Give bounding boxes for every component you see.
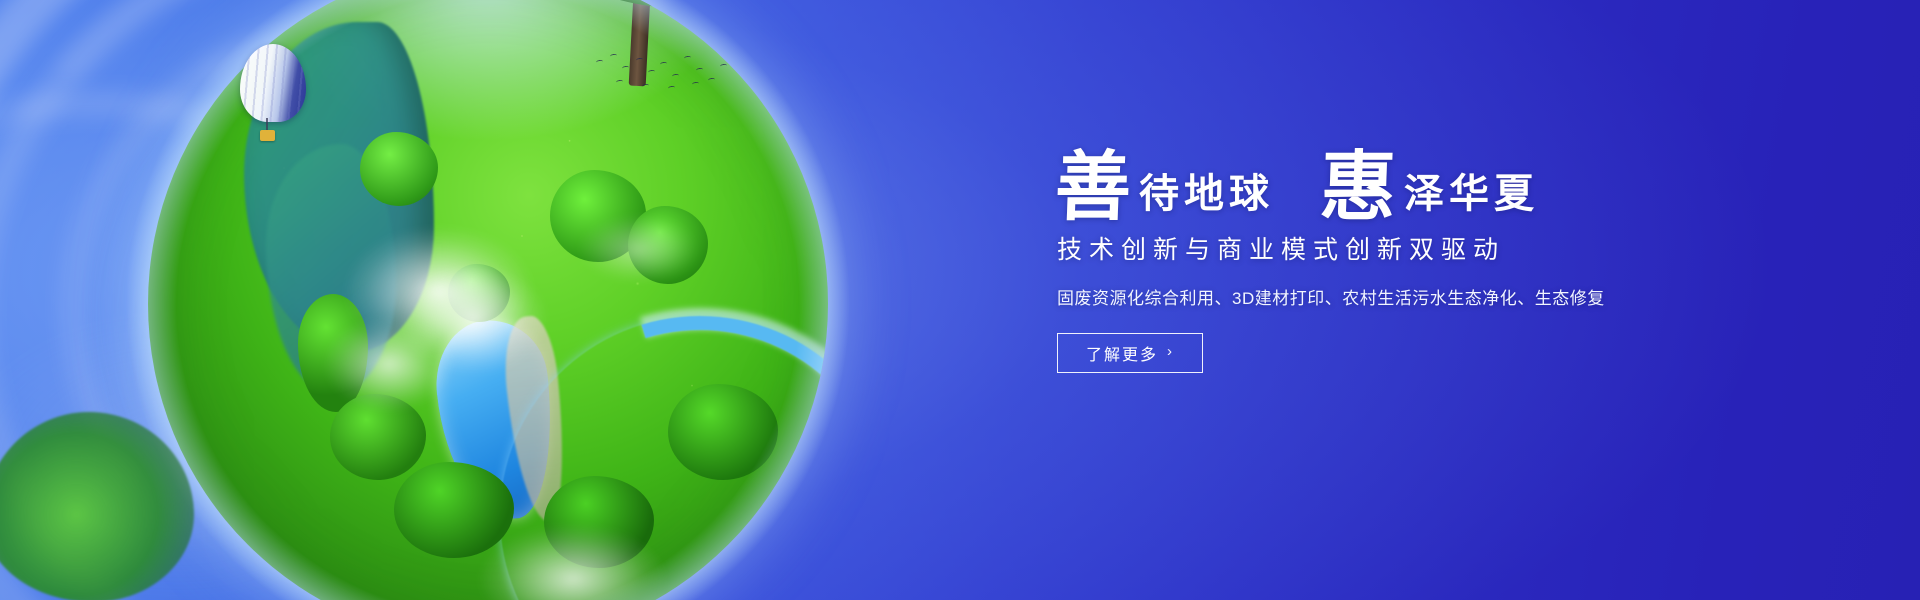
cloud-icon bbox=[324, 316, 454, 412]
bird-flock-icon bbox=[592, 52, 732, 96]
headline-text-daidiqiu: 待地球 bbox=[1131, 174, 1274, 220]
tree-canopy-blob bbox=[360, 132, 438, 206]
page-title: 善 待地球 惠 泽华夏 bbox=[1055, 150, 1795, 220]
headline-char-shan: 善 bbox=[1054, 154, 1132, 224]
headline-text-zehuaxia: 泽华夏 bbox=[1396, 174, 1539, 220]
tree-canopy-blob bbox=[394, 462, 514, 558]
hero-banner: 善 待地球 惠 泽华夏 技术创新与商业模式创新双驱动 固废资源化综合利用、3D建… bbox=[0, 0, 1920, 600]
learn-more-button[interactable]: 了解更多 › bbox=[1057, 333, 1203, 373]
tree-canopy-blob bbox=[668, 384, 778, 480]
hero-subtitle: 技术创新与商业模式创新双驱动 bbox=[1057, 230, 1795, 266]
cloud-icon bbox=[578, 214, 698, 284]
headline-char-hui: 惠 bbox=[1319, 154, 1397, 224]
hero-content: 善 待地球 惠 泽华夏 技术创新与商业模式创新双驱动 固废资源化综合利用、3D建… bbox=[1055, 150, 1795, 373]
hero-description: 固废资源化综合利用、3D建材打印、农村生活污水生态净化、生态修复 bbox=[1057, 284, 1795, 309]
hot-air-balloon-icon bbox=[240, 44, 306, 144]
chevron-right-icon: › bbox=[1167, 343, 1174, 360]
learn-more-label: 了解更多 bbox=[1086, 341, 1158, 365]
